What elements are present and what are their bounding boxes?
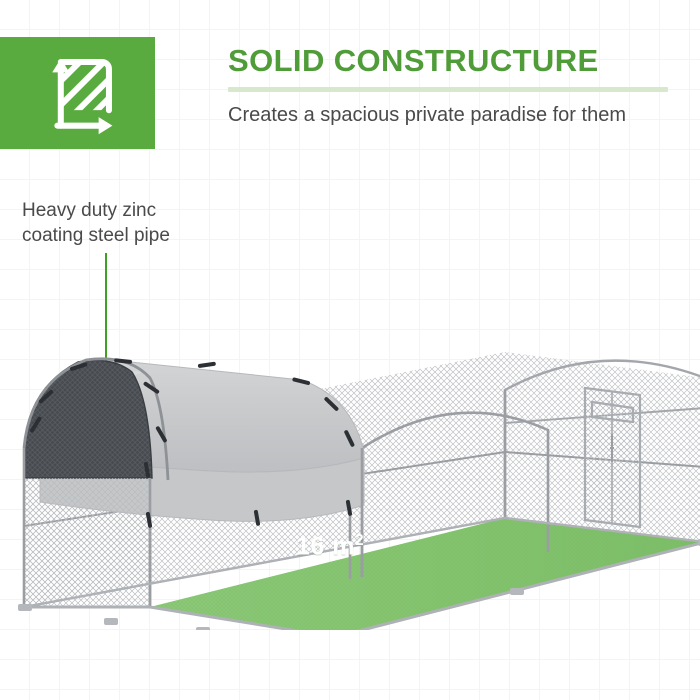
page-subtitle: Creates a spacious private paradise for … xyxy=(228,104,673,126)
header-banner: SOLID CONSTRUCTURE Creates a spacious pr… xyxy=(0,37,700,149)
area-unit: m xyxy=(332,532,355,560)
area-exponent: 2 xyxy=(355,532,364,549)
lockable-door xyxy=(585,388,640,527)
callout-label: Heavy duty zinc coating steel pipe xyxy=(22,198,237,248)
product-illustration xyxy=(0,330,700,630)
page-title: SOLID CONSTRUCTURE xyxy=(228,45,673,76)
area-dimension-icon xyxy=(35,50,121,136)
title-divider xyxy=(228,87,668,92)
header-text-group: SOLID CONSTRUCTURE Creates a spacious pr… xyxy=(228,37,673,149)
area-value: 16 xyxy=(296,532,325,560)
product-feature-card: SOLID CONSTRUCTURE Creates a spacious pr… xyxy=(0,0,700,700)
area-badge: 16 m2 xyxy=(296,532,364,561)
area-dimension-icon-tile xyxy=(0,37,155,149)
dark-mesh-front-panel xyxy=(24,360,152,478)
callout-annotation: Heavy duty zinc coating steel pipe xyxy=(22,198,237,248)
